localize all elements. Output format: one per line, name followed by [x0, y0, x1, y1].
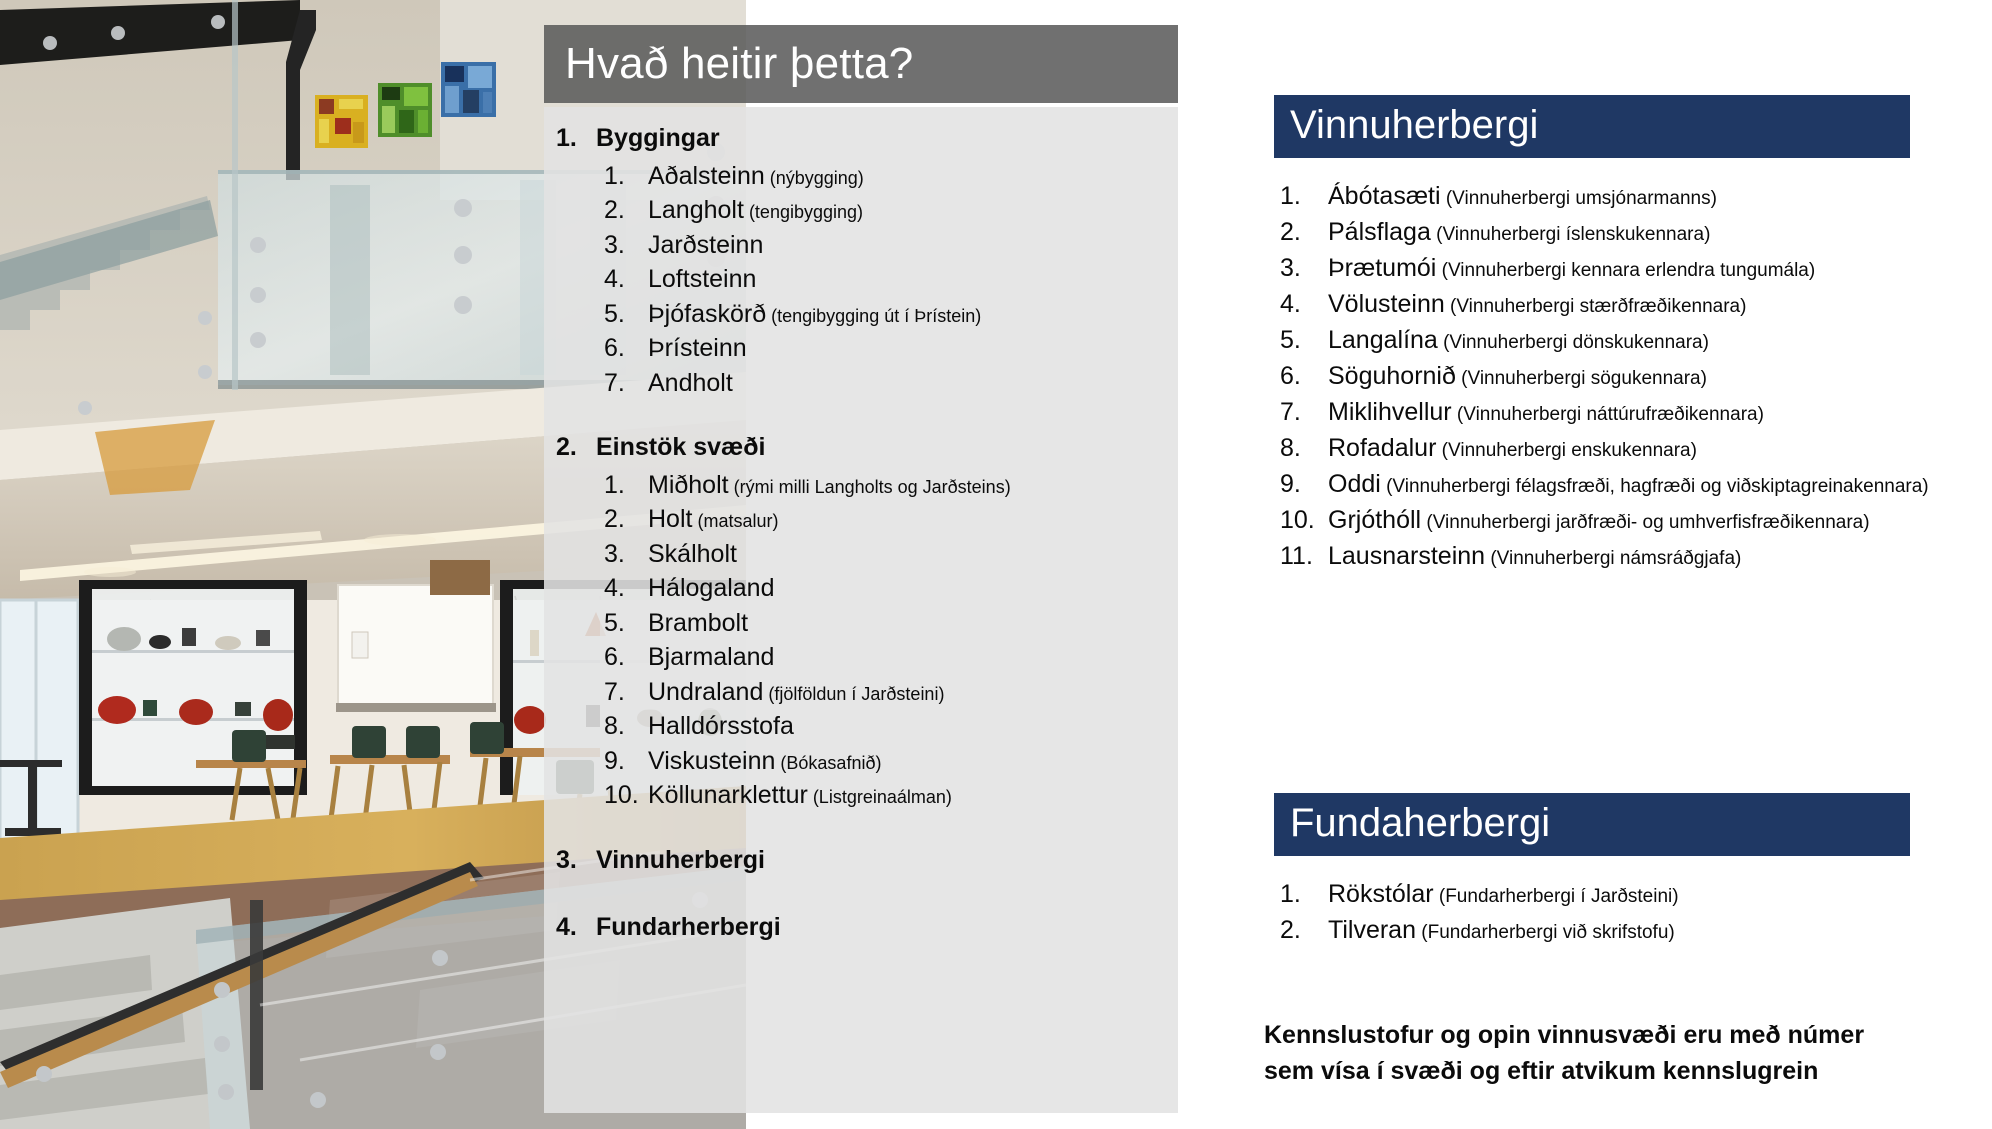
room-name: Söguhornið	[1328, 362, 1456, 390]
outline-level2-item[interactable]: 7.Undraland (fjölföldun í Jarðsteini)	[544, 675, 1170, 710]
outline-level1-item[interactable]: 1.Byggingar	[544, 121, 1170, 157]
room-list-number: 5.	[1280, 324, 1328, 357]
room-list-body: Völusteinn (Vinnuherbergi stærðfræðikenn…	[1328, 288, 1934, 321]
fundaherbergi-list: 1.Rökstólar (Fundarherbergi í Jarðsteini…	[1274, 856, 1934, 947]
mosaic-art-green	[378, 83, 432, 137]
vinnuherbergi-list-item[interactable]: 3.Þrætumói (Vinnuherbergi kennara erlend…	[1274, 252, 1934, 285]
room-name: Pálsflaga	[1328, 218, 1431, 246]
outline-level2-item[interactable]: 2.Holt (matsalur)	[544, 502, 1170, 537]
outline-level1-number: 4.	[556, 910, 596, 946]
room-name: Langalína	[1328, 326, 1438, 354]
room-note: (Vinnuherbergi kennara erlendra tungumál…	[1436, 260, 1815, 281]
room-name: Rofadalur	[1328, 434, 1436, 462]
room-list-body: Ábótasæti (Vinnuherbergi umsjónarmanns)	[1328, 180, 1934, 213]
outline-level2-label: Miðholt (rými milli Langholts og Jarðste…	[648, 468, 1011, 503]
outline-level2-label: Brambolt	[648, 606, 748, 641]
outline-level2-label: Þrísteinn	[648, 331, 747, 366]
room-list-body: Pálsflaga (Vinnuherbergi íslenskukennara…	[1328, 216, 1934, 249]
room-list-number: 2.	[1280, 216, 1328, 249]
room-list-number: 3.	[1280, 252, 1328, 285]
room-name: Lausnarsteinn	[1328, 542, 1485, 570]
outline-level2-note: (Listgreinaálman)	[808, 787, 952, 807]
section-header-vinnuherbergi: Vinnuherbergi	[1274, 95, 1910, 158]
section-header-fundaherbergi: Fundaherbergi	[1274, 793, 1910, 856]
outline-level1-label: Fundarherbergi	[596, 910, 781, 946]
outline-level2-label: Köllunarklettur (Listgreinaálman)	[648, 778, 952, 813]
outline-spacer	[544, 813, 1170, 843]
vinnuherbergi-list-item[interactable]: 4.Völusteinn (Vinnuherbergi stærðfræðike…	[1274, 288, 1934, 321]
outline-spacer	[544, 880, 1170, 910]
outline-level2-item[interactable]: 4.Loftsteinn	[544, 262, 1170, 297]
outline-level1-number: 1.	[556, 121, 596, 157]
room-list-body: Tilveran (Fundarherbergi við skrifstofu)	[1328, 914, 1934, 947]
room-list-number: 9.	[1280, 468, 1328, 501]
left-outline-panel: 1.Byggingar1.Aðalsteinn (nýbygging)2.Lan…	[544, 107, 1178, 1113]
room-note: (Vinnuherbergi enskukennara)	[1436, 440, 1697, 461]
outline-level2-label: Hálogaland	[648, 571, 775, 606]
outline-level2-number: 4.	[604, 262, 648, 297]
outline-level2-number: 5.	[604, 606, 648, 641]
outline-level1-label: Byggingar	[596, 121, 720, 157]
outline-level2-number: 2.	[604, 502, 648, 537]
room-list-number: 1.	[1280, 180, 1328, 213]
room-list-number: 8.	[1280, 432, 1328, 465]
mosaic-art-yellow	[315, 95, 368, 148]
outline-level2-label: Aðalsteinn (nýbygging)	[648, 159, 864, 194]
outline-level2-label: Jarðsteinn	[648, 228, 763, 263]
room-name: Ábótasæti	[1328, 182, 1441, 210]
room-list-number: 4.	[1280, 288, 1328, 321]
outline-level2-item[interactable]: 1.Miðholt (rými milli Langholts og Jarðs…	[544, 468, 1170, 503]
room-list-body: Miklihvellur (Vinnuherbergi náttúrufræði…	[1328, 396, 1934, 429]
room-list-body: Rofadalur (Vinnuherbergi enskukennara)	[1328, 432, 1934, 465]
room-list-number: 6.	[1280, 360, 1328, 393]
outline-level2-number: 5.	[604, 297, 648, 332]
outline-level2-number: 1.	[604, 159, 648, 194]
outline-level1-item[interactable]: 2.Einstök svæði	[544, 430, 1170, 466]
outline-level2-note: (tengibygging út í Þrístein)	[766, 306, 981, 326]
outline-level2-number: 3.	[604, 537, 648, 572]
outline-level2-item[interactable]: 9.Viskusteinn (Bókasafnið)	[544, 744, 1170, 779]
outline-level2-label: Bjarmaland	[648, 640, 774, 675]
outline-level2-label: Andholt	[648, 366, 733, 401]
mosaic-art-blue	[441, 62, 496, 117]
outline-level2-number: 7.	[604, 366, 648, 401]
room-list-body: Langalína (Vinnuherbergi dönskukennara)	[1328, 324, 1934, 357]
fundaherbergi-list-item[interactable]: 1.Rökstólar (Fundarherbergi í Jarðsteini…	[1274, 878, 1934, 911]
room-name: Grjóthóll	[1328, 506, 1421, 534]
outline-level1-number: 2.	[556, 430, 596, 466]
outline-level2-number: 10.	[604, 778, 648, 813]
room-note: (Vinnuherbergi námsráðgjafa)	[1485, 548, 1741, 569]
left-outline-list: 1.Byggingar1.Aðalsteinn (nýbygging)2.Lan…	[544, 107, 1178, 946]
outline-level2-note: (rými milli Langholts og Jarðsteins)	[729, 477, 1011, 497]
outline-level2-number: 3.	[604, 228, 648, 263]
outline-level2-number: 4.	[604, 571, 648, 606]
outline-level2-number: 2.	[604, 193, 648, 228]
vinnuherbergi-list-item[interactable]: 6.Söguhornið (Vinnuherbergi sögukennara)	[1274, 360, 1934, 393]
room-note: (Vinnuherbergi félagsfræði, hagfræði og …	[1381, 476, 1929, 497]
fundaherbergi-list-item[interactable]: 2.Tilveran (Fundarherbergi við skrifstof…	[1274, 914, 1934, 947]
room-name: Rökstólar	[1328, 880, 1434, 908]
footnote-line-1: Kennslustofur og opin vinnusvæði eru með…	[1258, 1018, 1944, 1054]
outline-level2-label: Þjófaskörð (tengibygging út í Þrístein)	[648, 297, 981, 332]
right-column: Vinnuherbergi 1.Ábótasæti (Vinnuherbergi…	[1274, 0, 1934, 1129]
room-name: Miklihvellur	[1328, 398, 1452, 426]
outline-level2-note: (fjölföldun í Jarðsteini)	[763, 684, 944, 704]
outline-level2-item[interactable]: 3.Jarðsteinn	[544, 228, 1170, 263]
outline-level2-label: Loftsteinn	[648, 262, 756, 297]
outline-level2-item[interactable]: 6.Þrísteinn	[544, 331, 1170, 366]
room-list-number: 7.	[1280, 396, 1328, 429]
outline-level2-item[interactable]: 4.Hálogaland	[544, 571, 1170, 606]
outline-level2-item[interactable]: 2.Langholt (tengibygging)	[544, 193, 1170, 228]
vinnuherbergi-list: 1.Ábótasæti (Vinnuherbergi umsjónarmanns…	[1274, 158, 1934, 573]
outline-level2-label: Holt (matsalur)	[648, 502, 778, 537]
room-list-number: 10.	[1280, 504, 1328, 537]
room-list-body: Lausnarsteinn (Vinnuherbergi námsráðgjaf…	[1328, 540, 1934, 573]
room-name: Þrætumói	[1328, 254, 1436, 282]
outline-level2-label: Langholt (tengibygging)	[648, 193, 863, 228]
outline-level2-note: (Bókasafnið)	[775, 753, 881, 773]
outline-level2-number: 6.	[604, 640, 648, 675]
outline-level2-item[interactable]: 5.Þjófaskörð (tengibygging út í Þrístein…	[544, 297, 1170, 332]
outline-level2-number: 8.	[604, 709, 648, 744]
room-name: Tilveran	[1328, 916, 1416, 944]
vinnuherbergi-list-item[interactable]: 5.Langalína (Vinnuherbergi dönskukennara…	[1274, 324, 1934, 357]
room-name: Oddi	[1328, 470, 1381, 498]
outline-spacer	[544, 400, 1170, 430]
outline-level2-item[interactable]: 3.Skálholt	[544, 537, 1170, 572]
room-list-number: 11.	[1280, 540, 1328, 573]
outline-level1-item[interactable]: 4.Fundarherbergi	[544, 910, 1170, 946]
room-note: (Vinnuherbergi umsjónarmanns)	[1441, 188, 1717, 209]
vinnuherbergi-list-item[interactable]: 2.Pálsflaga (Vinnuherbergi íslenskukenna…	[1274, 216, 1934, 249]
outline-level1-number: 3.	[556, 843, 596, 879]
slide-title-bar: Hvað heitir þetta?	[544, 25, 1178, 103]
outline-level2-item[interactable]: 1.Aðalsteinn (nýbygging)	[544, 159, 1170, 194]
outline-level2-number: 1.	[604, 468, 648, 503]
vinnuherbergi-list-item[interactable]: 11.Lausnarsteinn (Vinnuherbergi námsráðg…	[1274, 540, 1934, 573]
room-note: (Vinnuherbergi dönskukennara)	[1438, 332, 1709, 353]
outline-level2-label: Halldórsstofa	[648, 709, 794, 744]
outline-level2-item[interactable]: 7.Andholt	[544, 366, 1170, 401]
outline-level2-item[interactable]: 5.Brambolt	[544, 606, 1170, 641]
room-name: Völusteinn	[1328, 290, 1445, 318]
outline-level2-note: (matsalur)	[692, 511, 778, 531]
outline-level1-label: Einstök svæði	[596, 430, 766, 466]
room-note: (Vinnuherbergi náttúrufræðikennara)	[1452, 404, 1764, 425]
outline-level2-item[interactable]: 10.Köllunarklettur (Listgreinaálman)	[544, 778, 1170, 813]
room-note: (Fundarherbergi í Jarðsteini)	[1434, 886, 1679, 907]
room-note: (Vinnuherbergi íslenskukennara)	[1431, 224, 1711, 245]
room-list-body: Þrætumói (Vinnuherbergi kennara erlendra…	[1328, 252, 1934, 285]
room-note: (Fundarherbergi við skrifstofu)	[1416, 922, 1675, 943]
outline-level2-label: Undraland (fjölföldun í Jarðsteini)	[648, 675, 944, 710]
room-list-body: Grjóthóll (Vinnuherbergi jarðfræði- og u…	[1328, 504, 1934, 537]
footnote-line-2: sem vísa í svæði og eftir atvikum kennsl…	[1258, 1054, 1944, 1090]
room-list-body: Rökstólar (Fundarherbergi í Jarðsteini)	[1328, 878, 1934, 911]
vinnuherbergi-list-item[interactable]: 9.Oddi (Vinnuherbergi félagsfræði, hagfr…	[1274, 468, 1934, 501]
outline-level1-label: Vinnuherbergi	[596, 843, 765, 879]
outline-level2-number: 7.	[604, 675, 648, 710]
outline-level2-label: Skálholt	[648, 537, 737, 572]
room-list-body: Oddi (Vinnuherbergi félagsfræði, hagfræð…	[1328, 468, 1934, 501]
room-note: (Vinnuherbergi stærðfræðikennara)	[1445, 296, 1747, 317]
outline-level2-note: (nýbygging)	[765, 168, 864, 188]
room-note: (Vinnuherbergi sögukennara)	[1456, 368, 1707, 389]
outline-level2-item[interactable]: 8.Halldórsstofa	[544, 709, 1170, 744]
page-title: Hvað heitir þetta?	[544, 42, 913, 86]
room-list-number: 2.	[1280, 914, 1328, 947]
outline-level2-number: 6.	[604, 331, 648, 366]
slide-canvas: Hvað heitir þetta? 1.Byggingar1.Aðalstei…	[0, 0, 1992, 1129]
outline-level2-item[interactable]: 6.Bjarmaland	[544, 640, 1170, 675]
vinnuherbergi-list-item[interactable]: 1.Ábótasæti (Vinnuherbergi umsjónarmanns…	[1274, 180, 1934, 213]
room-list-number: 1.	[1280, 878, 1328, 911]
room-note: (Vinnuherbergi jarðfræði- og umhverfisfr…	[1421, 512, 1869, 533]
room-list-body: Söguhornið (Vinnuherbergi sögukennara)	[1328, 360, 1934, 393]
outline-level2-note: (tengibygging)	[744, 202, 863, 222]
outline-level2-number: 9.	[604, 744, 648, 779]
vinnuherbergi-list-item[interactable]: 10.Grjóthóll (Vinnuherbergi jarðfræði- o…	[1274, 504, 1934, 537]
vinnuherbergi-list-item[interactable]: 7.Miklihvellur (Vinnuherbergi náttúrufræ…	[1274, 396, 1934, 429]
vinnuherbergi-list-item[interactable]: 8.Rofadalur (Vinnuherbergi enskukennara)	[1274, 432, 1934, 465]
outline-level2-label: Viskusteinn (Bókasafnið)	[648, 744, 881, 779]
outline-level1-item[interactable]: 3.Vinnuherbergi	[544, 843, 1170, 879]
